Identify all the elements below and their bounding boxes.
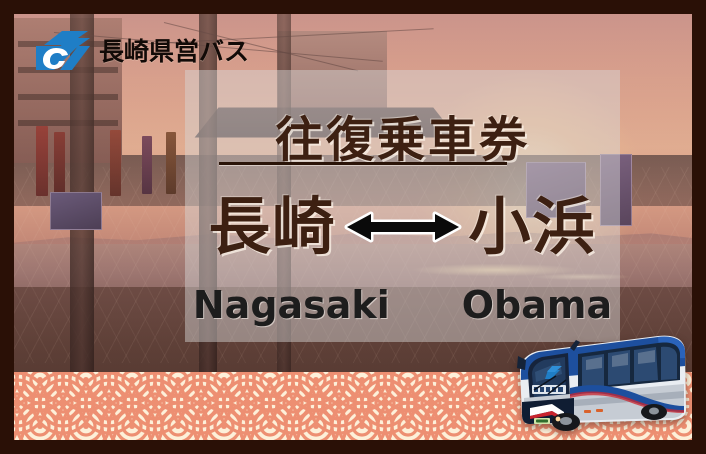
banner-stage: 長崎県営バス 往復乗車券 長崎 小浜 Nagasaki Obam xyxy=(14,14,692,440)
destination-jp: 小浜 xyxy=(469,196,597,258)
route-row: 長崎 小浜 xyxy=(185,196,620,258)
romaji-row: Nagasaki Obama xyxy=(185,286,620,324)
origin-jp: 長崎 xyxy=(208,196,336,258)
brand-logo: 長崎県営バス xyxy=(32,28,249,72)
brand-name: 長崎県営バス xyxy=(99,32,249,68)
title-underline xyxy=(219,162,507,165)
origin-romaji: Nagasaki xyxy=(193,286,390,324)
ticket-banner: 長崎県営バス 往復乗車券 長崎 小浜 Nagasaki Obam xyxy=(0,0,706,454)
destination-romaji: Obama xyxy=(462,286,612,324)
ticket-title-text: 往復乗車券 xyxy=(275,100,530,170)
nagasaki-bus-swoosh-logo-icon xyxy=(32,28,90,72)
ticket-title: 往復乗車券 xyxy=(185,100,620,170)
highway-coach-bus-photo xyxy=(508,324,688,434)
double-headed-arrow-icon xyxy=(343,207,463,247)
